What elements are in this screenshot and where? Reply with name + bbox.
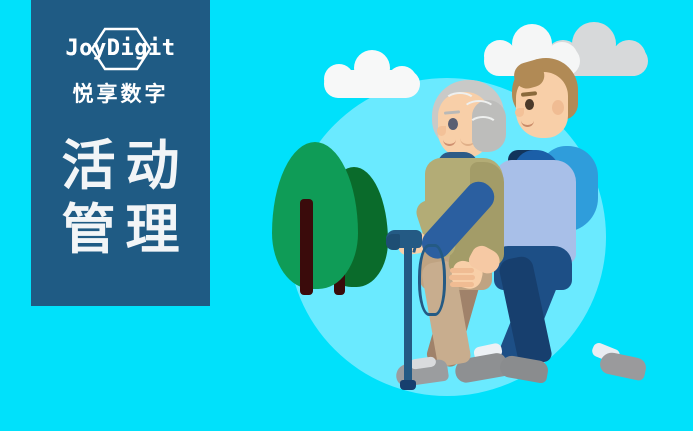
walking-cane-shaft xyxy=(404,238,412,386)
cloud-lobe xyxy=(612,40,646,74)
hand-finger xyxy=(449,275,475,280)
young-man-nose xyxy=(515,108,524,117)
page-title-line-1: 活动 xyxy=(52,135,190,199)
elderly-woman-eye xyxy=(448,118,458,130)
young-man-eye xyxy=(525,99,534,110)
cloud-lobe xyxy=(324,64,354,94)
cloud-lobe xyxy=(387,66,417,96)
hand-finger xyxy=(450,268,474,273)
elderly-woman-hair-wave xyxy=(468,116,498,136)
title-panel: JoyDigit 悦享数字 活动 管理 xyxy=(31,0,210,306)
tree-front-trunk xyxy=(300,199,313,295)
poster-canvas: JoyDigit 悦享数字 活动 管理 xyxy=(0,0,693,431)
elderly-woman-nose xyxy=(437,126,446,136)
brand-logo: JoyDigit xyxy=(46,26,196,72)
walking-cane-handle-end xyxy=(386,234,400,250)
page-title-line-2: 管理 xyxy=(52,199,190,263)
walking-cane-tip xyxy=(400,380,416,390)
brand-name-chinese: 悦享数字 xyxy=(73,84,169,105)
hand-finger xyxy=(450,282,474,287)
brand-wordmark: JoyDigit xyxy=(66,38,176,60)
cloud-icon-left xyxy=(324,50,420,98)
page-title: 活动 管理 xyxy=(52,135,190,262)
cloud-lobe xyxy=(354,50,390,86)
young-man-ear xyxy=(552,100,564,115)
